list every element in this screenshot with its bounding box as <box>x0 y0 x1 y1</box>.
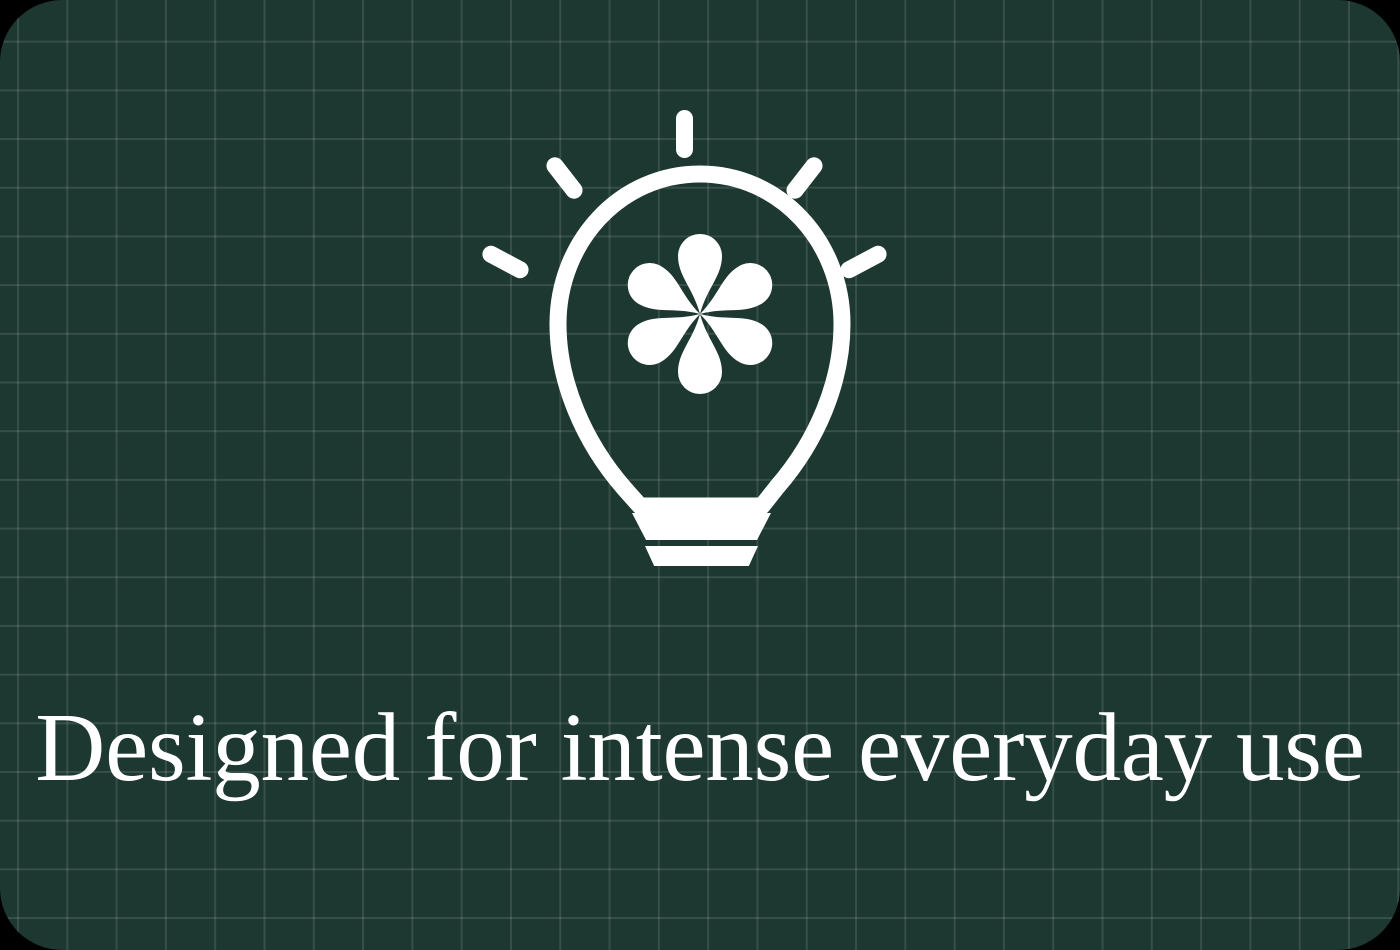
bulb-outline <box>558 174 842 506</box>
lightbulb-flower-icon <box>480 96 920 566</box>
ray-upper-left <box>543 154 586 202</box>
bulb-base-band-2 <box>645 546 758 566</box>
bulb-base-band-1 <box>632 513 771 540</box>
flower-petal <box>678 314 722 394</box>
ray-lower-right <box>837 243 889 281</box>
icon-container <box>0 96 1400 566</box>
feature-headline: Designed for intense everyday use <box>0 689 1400 807</box>
feature-card: Designed for intense everyday use <box>0 0 1400 950</box>
flower-petal <box>678 234 722 314</box>
flower-petal <box>689 295 780 373</box>
ray-lower-left <box>480 243 532 281</box>
ray-top <box>676 110 693 158</box>
flower-petal <box>620 255 711 333</box>
ray-upper-right <box>783 154 826 202</box>
flower-glyph <box>620 234 781 394</box>
flower-petal <box>689 255 780 333</box>
flower-petal <box>620 295 711 373</box>
